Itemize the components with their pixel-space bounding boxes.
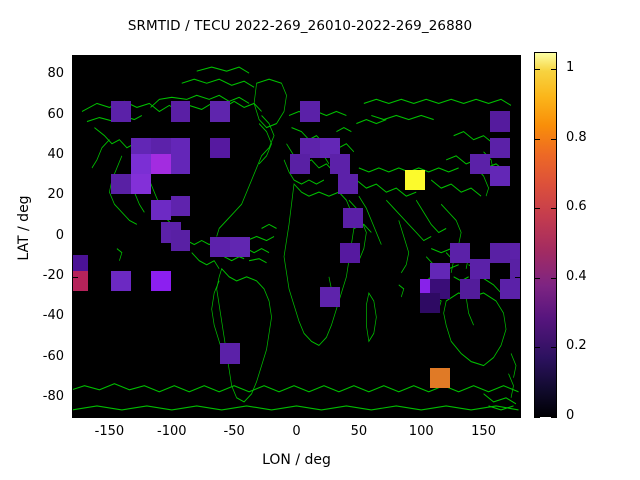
data-cell: [111, 271, 131, 291]
y-tick-mark: [72, 75, 78, 76]
data-cell: [220, 343, 240, 363]
colorbar-tick-right: [551, 69, 557, 70]
y-tick-mark: [72, 116, 78, 117]
chart-title: SRMTID / TECU 2022-269_26010-2022-269_26…: [0, 18, 600, 34]
data-cell: [490, 111, 510, 131]
data-cell: [470, 154, 490, 174]
colorbar-tick-label: 0.4: [566, 269, 587, 284]
figure-root: SRMTID / TECU 2022-269_26010-2022-269_26…: [0, 0, 640, 480]
data-cell: [230, 237, 250, 257]
data-cell: [151, 154, 171, 174]
data-cell: [171, 154, 191, 174]
x-axis-labels: -150-100-50050100150: [72, 424, 521, 444]
colorbar-tick-label: 0: [566, 408, 574, 423]
y-tick-label: -60: [24, 349, 64, 364]
data-cell: [111, 101, 131, 121]
x-tick-mark: [421, 412, 422, 418]
data-cell: [72, 271, 88, 291]
colorbar-tick-left: [534, 278, 540, 279]
colorbar-tick-right: [551, 208, 557, 209]
colorbar-tick-label: 0.8: [566, 130, 587, 145]
y-tick-mark: [72, 156, 78, 157]
x-tick-label: 0: [267, 424, 327, 439]
x-tick-mark-top: [421, 55, 422, 61]
x-axis-title: LON / deg: [72, 452, 521, 468]
y-tick-label: 60: [24, 107, 64, 122]
data-cell: [210, 138, 230, 158]
colorbar-tick-left: [534, 347, 540, 348]
y-tick-mark-right: [515, 317, 521, 318]
data-cell: [500, 279, 520, 299]
data-cell: [490, 138, 510, 158]
x-tick-mark-top: [172, 55, 173, 61]
data-cell: [338, 174, 358, 194]
x-tick-mark: [109, 412, 110, 418]
y-tick-label: 80: [24, 66, 64, 81]
data-cell: [470, 259, 490, 279]
data-cell: [330, 154, 350, 174]
y-tick-mark: [72, 398, 78, 399]
data-cell: [343, 208, 363, 228]
data-cell: [210, 101, 230, 121]
y-tick-mark: [72, 237, 78, 238]
x-tick-label: -150: [79, 424, 139, 439]
y-tick-mark-right: [515, 75, 521, 76]
data-cell: [320, 287, 340, 307]
map-plot-area[interactable]: [72, 55, 521, 418]
x-tick-mark-top: [359, 55, 360, 61]
x-tick-mark: [172, 412, 173, 418]
data-cell: [171, 101, 191, 121]
colorbar-tick-label: 0.2: [566, 338, 587, 353]
x-tick-label: -100: [142, 424, 202, 439]
y-tick-label: -80: [24, 389, 64, 404]
data-cell: [490, 166, 510, 186]
colorbar-tick-right: [551, 347, 557, 348]
data-cell: [151, 200, 171, 220]
data-cell: [420, 293, 440, 313]
y-tick-mark: [72, 317, 78, 318]
x-tick-label: 150: [454, 424, 514, 439]
colorbar-tick-left: [534, 417, 540, 418]
data-cell: [300, 101, 320, 121]
y-tick-mark: [72, 196, 78, 197]
data-cell: [340, 243, 360, 263]
data-cell: [430, 368, 450, 388]
y-tick-label: -40: [24, 308, 64, 323]
data-cell: [131, 174, 151, 194]
colorbar-tick-right: [551, 278, 557, 279]
coastline-overlay: [72, 55, 521, 418]
data-cell: [151, 271, 171, 291]
y-tick-mark-right: [515, 277, 521, 278]
colorbar-tick-right: [551, 417, 557, 418]
y-tick-mark-right: [515, 116, 521, 117]
data-cell: [490, 243, 510, 263]
x-tick-mark: [484, 412, 485, 418]
colorbar-tick-label: 0.6: [566, 199, 587, 214]
x-tick-label: 50: [329, 424, 389, 439]
data-cell: [405, 170, 425, 190]
data-cell: [171, 230, 191, 250]
x-tick-mark-top: [109, 55, 110, 61]
colorbar-tick-right: [551, 139, 557, 140]
y-tick-mark-right: [515, 156, 521, 157]
y-tick-mark-right: [515, 358, 521, 359]
y-tick-mark-right: [515, 196, 521, 197]
colorbar-tick-label: 1: [566, 60, 574, 75]
data-cell: [510, 259, 521, 279]
data-cell: [171, 196, 191, 216]
colorbar-tick-left: [534, 139, 540, 140]
y-axis-title: LAT / deg: [16, 148, 32, 308]
x-tick-mark: [234, 412, 235, 418]
x-tick-mark-top: [234, 55, 235, 61]
data-cell: [131, 154, 151, 174]
data-cell: [210, 237, 230, 257]
x-tick-mark-top: [484, 55, 485, 61]
y-tick-mark: [72, 277, 78, 278]
y-tick-mark: [72, 358, 78, 359]
data-cell: [111, 174, 131, 194]
data-cell: [450, 243, 470, 263]
data-cell: [290, 154, 310, 174]
colorbar-tick-left: [534, 69, 540, 70]
x-tick-mark: [297, 412, 298, 418]
x-tick-label: 100: [391, 424, 451, 439]
colorbar[interactable]: [534, 52, 557, 417]
y-tick-mark-right: [515, 237, 521, 238]
x-tick-label: -50: [204, 424, 264, 439]
x-tick-mark: [359, 412, 360, 418]
x-tick-mark-top: [297, 55, 298, 61]
data-cell: [460, 279, 480, 299]
colorbar-tick-left: [534, 208, 540, 209]
y-tick-mark-right: [515, 398, 521, 399]
